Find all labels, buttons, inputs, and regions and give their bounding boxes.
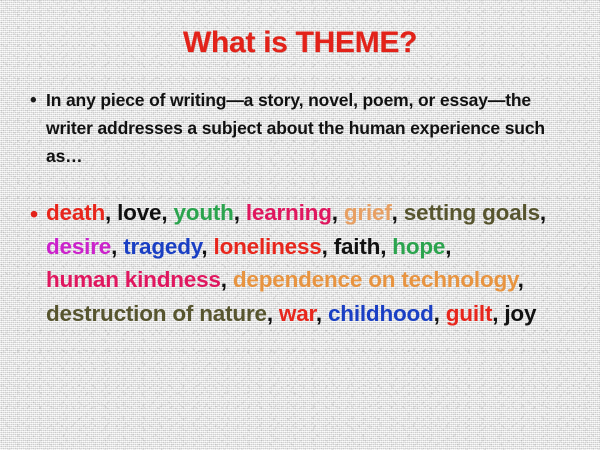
theme-word-separator: , xyxy=(518,267,524,292)
theme-list-bullet: • death, love, youth, learning, grief, s… xyxy=(30,196,578,330)
theme-word-separator: , xyxy=(392,200,404,225)
bullet-dot-icon: • xyxy=(30,196,46,226)
theme-word-separator: , xyxy=(267,301,279,326)
theme-word: war xyxy=(279,301,316,326)
page-title: What is THEME? xyxy=(0,26,600,60)
theme-word-separator: , xyxy=(332,200,344,225)
theme-word-separator: , xyxy=(161,200,173,225)
theme-word-separator: , xyxy=(111,234,123,259)
theme-word: learning xyxy=(246,200,332,225)
theme-word: youth xyxy=(173,200,233,225)
bullet-dot-icon: • xyxy=(30,86,46,110)
theme-word-separator: , xyxy=(234,200,246,225)
theme-word-separator: , xyxy=(445,234,451,259)
theme-word: hope xyxy=(392,234,445,259)
theme-word: joy xyxy=(504,301,536,326)
slide-canvas: What is THEME? • In any piece of writing… xyxy=(0,0,600,450)
theme-word-separator: , xyxy=(201,234,213,259)
theme-word: dependence on technology xyxy=(233,267,518,292)
theme-word: grief xyxy=(344,200,392,225)
theme-word: destruction of nature xyxy=(46,301,267,326)
theme-word-separator: , xyxy=(221,267,233,292)
theme-word-separator: , xyxy=(434,301,446,326)
intro-bullet-text: In any piece of writing—a story, novel, … xyxy=(46,90,545,166)
intro-bullet-body: In any piece of writing—a story, novel, … xyxy=(46,86,578,170)
theme-word: guilt xyxy=(446,301,492,326)
theme-word-separator: , xyxy=(322,234,334,259)
theme-word-separator: , xyxy=(105,200,117,225)
theme-word: childhood xyxy=(328,301,434,326)
theme-word: faith xyxy=(334,234,381,259)
theme-word: love xyxy=(117,200,161,225)
theme-word-separator: , xyxy=(492,301,504,326)
theme-word: desire xyxy=(46,234,111,259)
theme-word: human kindness xyxy=(46,267,221,292)
theme-word-separator: , xyxy=(380,234,392,259)
theme-word-separator: , xyxy=(540,200,546,225)
theme-word-list: death, love, youth, learning, grief, set… xyxy=(46,200,546,326)
theme-word: loneliness xyxy=(214,234,322,259)
intro-bullet: • In any piece of writing—a story, novel… xyxy=(30,86,578,170)
theme-word: death xyxy=(46,200,105,225)
theme-word: setting goals xyxy=(404,200,540,225)
theme-word-separator: , xyxy=(316,301,328,326)
theme-word: tragedy xyxy=(123,234,201,259)
theme-list-body: death, love, youth, learning, grief, set… xyxy=(46,196,578,330)
